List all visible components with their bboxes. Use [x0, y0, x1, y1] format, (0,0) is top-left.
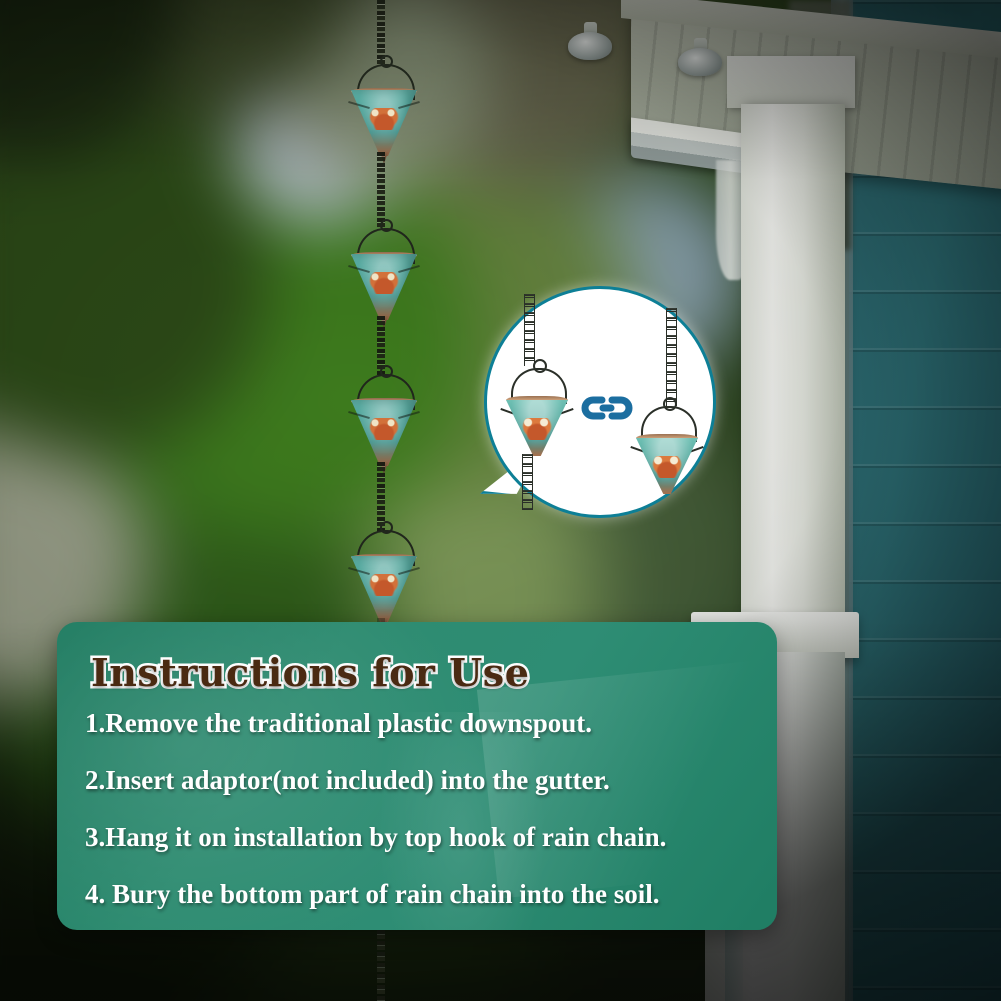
bee-face-motif [368, 574, 400, 596]
product-image-canvas: Instructions for Use 1.Remove the tradit… [0, 0, 1001, 1001]
bee-face-motif [368, 108, 400, 130]
bee-cup [351, 374, 417, 466]
callout-chain-left [524, 294, 535, 366]
instruction-list: 1.Remove the traditional plastic downspo… [85, 710, 765, 930]
page-title: Instructions for Use [91, 650, 529, 695]
instruction-step: 3.Hang it on installation by top hook of… [85, 824, 765, 851]
chain-link-icon [578, 388, 636, 428]
bee-face-motif [368, 418, 400, 440]
instruction-step: 1.Remove the traditional plastic downspo… [85, 710, 765, 737]
bee-face-motif [651, 456, 683, 478]
callout-chain-left-lower [522, 454, 533, 510]
callout-chain-right [666, 308, 677, 406]
callout-cup-left [506, 368, 568, 456]
chain-segment-bottom [377, 930, 385, 1001]
bee-face-motif [521, 418, 553, 440]
instructions-panel: Instructions for Use 1.Remove the tradit… [57, 622, 777, 930]
instruction-step: 2.Insert adaptor(not included) into the … [85, 767, 765, 794]
bee-cup [351, 64, 417, 156]
bee-face-motif [368, 272, 400, 294]
bee-cup [351, 228, 417, 320]
bee-cup [351, 530, 417, 622]
instruction-step: 4. Bury the bottom part of rain chain in… [85, 881, 765, 908]
callout-cup-right [636, 406, 698, 494]
